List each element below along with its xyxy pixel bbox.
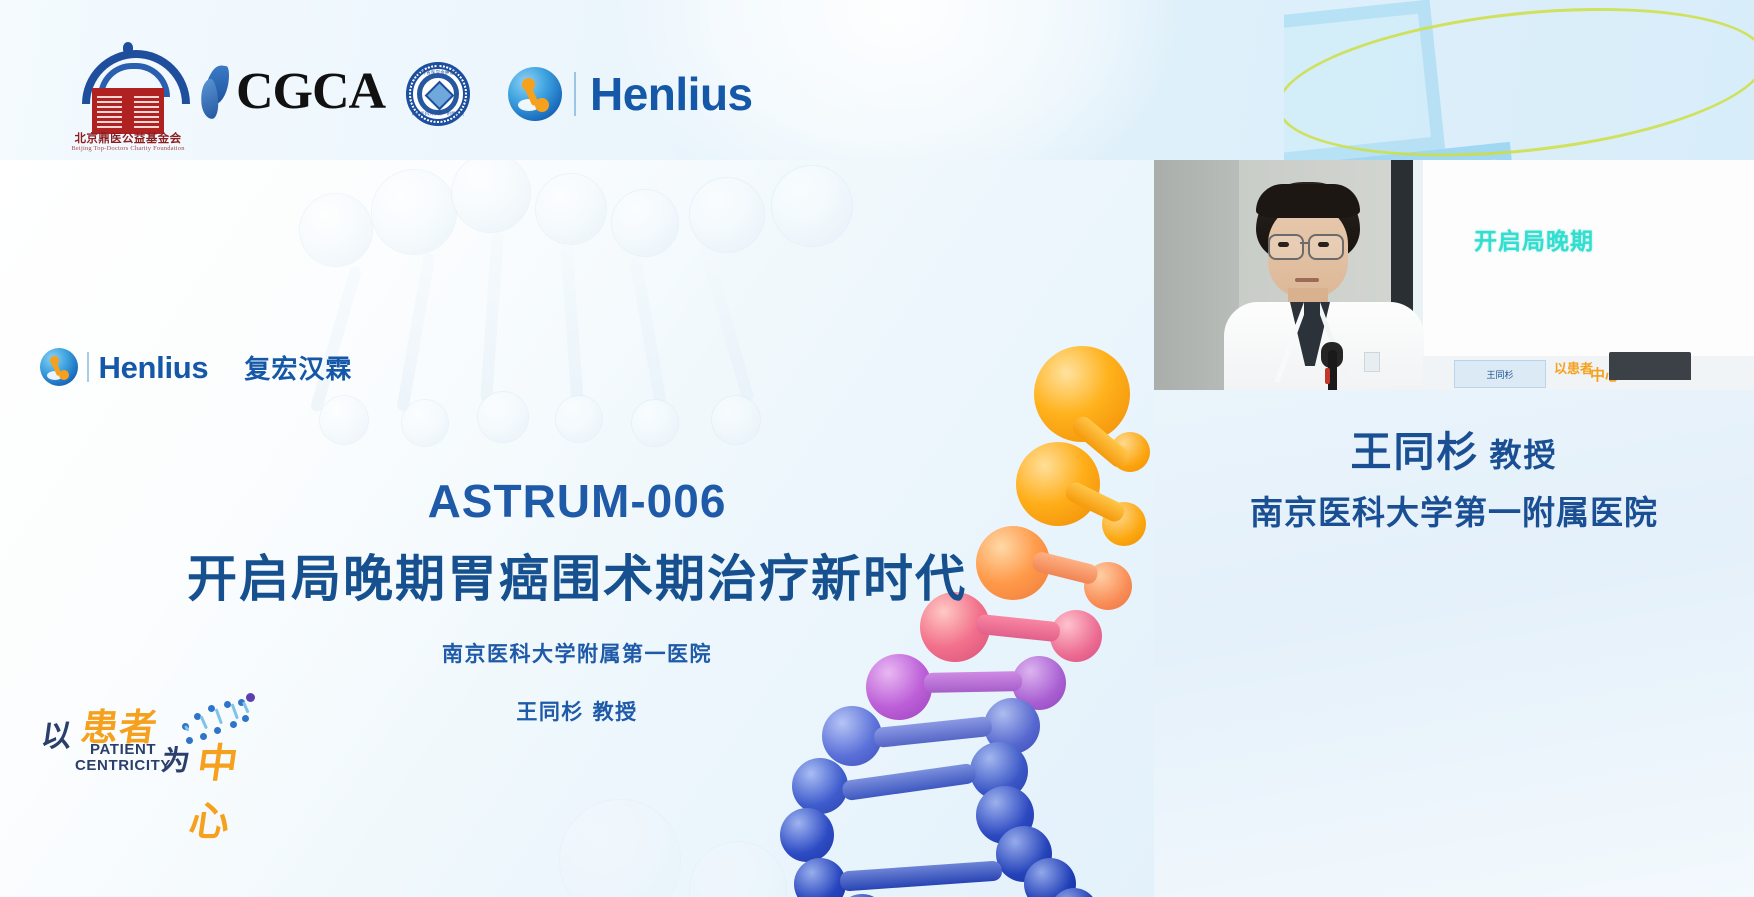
- slide-brand-lockup: Henlius 复宏汉霖: [40, 348, 352, 386]
- glasses-right-icon: [1308, 234, 1344, 260]
- speaker-panel: 开启局晚期 王同杉: [1154, 160, 1754, 897]
- pc-en-line2: CENTRICITY: [75, 757, 171, 774]
- henlius-wordmark: Henlius: [590, 71, 753, 117]
- henlius-mark-icon: [40, 348, 78, 386]
- brand-divider: [87, 352, 89, 382]
- foundation-seal-icon: [92, 88, 164, 134]
- slide-main-title: 开启局晚期胃癌围术期治疗新时代: [0, 551, 1154, 609]
- hospital-seal-logo: 江苏省医学会肿瘤学 南京医科大学第一附属医院: [406, 62, 470, 126]
- slide-affiliation: 南京医科大学附属第一医院: [0, 638, 1154, 668]
- speaker-eye-right: [1318, 242, 1329, 247]
- speaker-figure: [1216, 182, 1426, 390]
- cgca-wordmark: CGCA: [236, 66, 385, 118]
- speaker-mouth: [1295, 278, 1319, 282]
- seal-text-top: 江苏省医学会肿瘤学: [406, 70, 470, 76]
- henlius-wordmark: Henlius: [99, 352, 209, 383]
- logo-row: 北京鼎医公益基金会 Beijing Top-Doctors Charity Fo…: [0, 0, 1200, 160]
- speaker-fringe: [1256, 184, 1360, 218]
- pc-en-line1: PATIENT: [90, 741, 156, 758]
- henlius-logo: Henlius: [508, 62, 753, 126]
- glasses-left-icon: [1268, 234, 1304, 260]
- seal-text-bottom: 南京医科大学第一附属医院: [406, 111, 470, 117]
- speaker-name-card: 王同杉教授 南京医科大学第一附属医院: [1154, 390, 1754, 897]
- pc-wei: 为: [159, 739, 193, 779]
- foundation-logo: 北京鼎医公益基金会 Beijing Top-Doctors Charity Fo…: [60, 42, 195, 147]
- coat-pocket-badge: [1364, 352, 1380, 372]
- patient-centricity-logo: 以 患者 PATIENT CENTRICITY 为 中心: [42, 693, 257, 783]
- slide-title-block: ASTRUM-006 开启局晚期胃癌围术期治疗新时代 南京医科大学附属第一医院 …: [0, 476, 1154, 726]
- speaker-title: 教授: [1489, 436, 1557, 474]
- cgca-logo: CGCA: [198, 62, 385, 122]
- study-code: ASTRUM-006: [0, 476, 1154, 527]
- speaker-name-row: 王同杉教授: [1154, 418, 1754, 478]
- projected-slide-text: 开启局晚期: [1474, 222, 1594, 256]
- header-cell-artwork: [1284, 0, 1754, 160]
- desk-name-plate: 王同杉: [1454, 360, 1546, 388]
- henlius-mark-icon: [508, 67, 562, 121]
- speaker-video-feed[interactable]: 开启局晚期 王同杉: [1154, 160, 1754, 390]
- glasses-bridge-icon: [1300, 242, 1308, 244]
- presentation-slide: Henlius 复宏汉霖: [0, 160, 1154, 897]
- henlius-wordmark-cn: 复宏汉霖: [244, 349, 352, 386]
- foundation-name-cn: 北京鼎医公益基金会: [58, 130, 198, 146]
- desk-pc-text-a: 以患者: [1554, 358, 1593, 377]
- henlius-divider: [574, 72, 576, 116]
- foundation-name-en: Beijing Top-Doctors Charity Foundation: [58, 145, 198, 152]
- speaker-eye-left: [1278, 242, 1289, 247]
- microphone-indicator: [1325, 368, 1330, 384]
- cgca-flame-icon: [198, 63, 238, 121]
- speaker-affiliation: 南京医科大学第一附属医院: [1154, 486, 1754, 534]
- speaker-name: 王同杉: [1350, 428, 1479, 476]
- header-logo-bar: 北京鼎医公益基金会 Beijing Top-Doctors Charity Fo…: [0, 0, 1754, 160]
- pc-yi: 以: [39, 711, 75, 755]
- desk-laptop: [1609, 352, 1691, 380]
- broadcast-screen: 北京鼎医公益基金会 Beijing Top-Doctors Charity Fo…: [0, 0, 1754, 897]
